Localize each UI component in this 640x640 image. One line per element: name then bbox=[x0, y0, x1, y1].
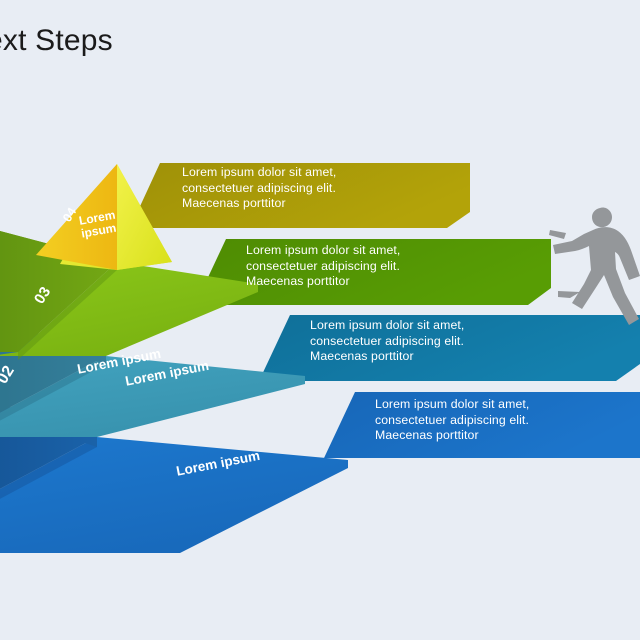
pyramid-diagram-artwork bbox=[0, 0, 640, 640]
banner-shape-01[interactable] bbox=[312, 392, 640, 458]
slide-canvas: ext Steps bbox=[0, 0, 640, 640]
banner-shape-02[interactable] bbox=[247, 315, 640, 381]
banner-shape-04[interactable] bbox=[118, 163, 470, 228]
runner-silhouette-icon bbox=[549, 208, 640, 325]
